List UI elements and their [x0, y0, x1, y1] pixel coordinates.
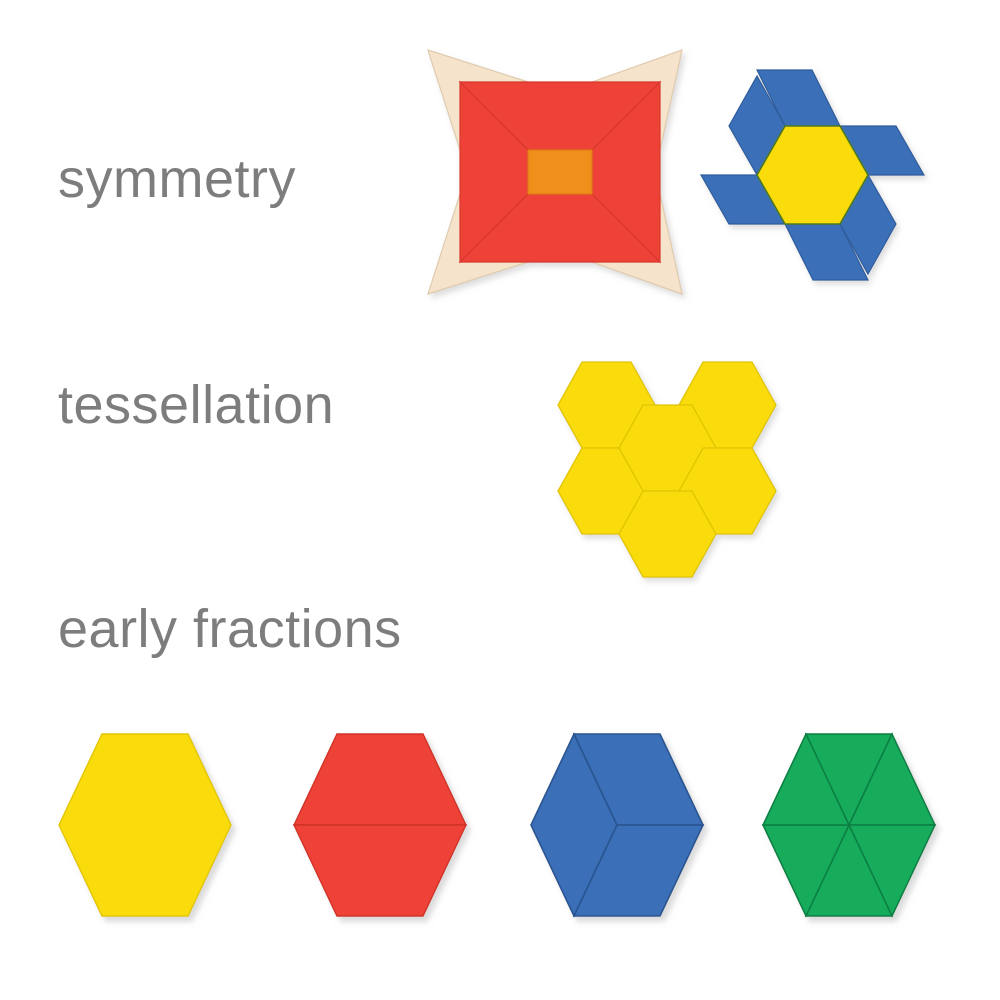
pinwheel-pieces	[701, 70, 924, 280]
yellow-hexagon-whole	[59, 734, 231, 916]
label-tessellation: tessellation	[58, 378, 334, 432]
figure-hexagon-tessellation	[530, 348, 810, 578]
figure-fraction-thirds-blue-hexagon	[512, 722, 732, 928]
fraction-halves-svg	[275, 722, 495, 928]
figure-fraction-sixths-green-hexagon	[744, 722, 964, 928]
figure-fraction-whole-yellow-hexagon	[40, 722, 260, 928]
fraction-whole-svg	[40, 722, 260, 928]
figure-fraction-halves-red-hexagon	[275, 722, 495, 928]
red-trapezoid-lower-half	[294, 825, 466, 916]
figure-symmetry-square-star	[420, 42, 700, 302]
fraction-thirds-svg	[512, 722, 732, 928]
poster-canvas: symmetry	[0, 0, 1000, 1000]
halves-hexagon-group	[294, 734, 466, 916]
whole-hexagon-group	[59, 734, 231, 916]
symmetry-square-star-svg	[420, 42, 700, 302]
fraction-sixths-svg	[744, 722, 964, 928]
orange-square-center	[528, 150, 592, 194]
sixths-hexagon-group	[763, 734, 935, 916]
thirds-hexagon-group	[531, 734, 703, 916]
red-trapezoid-upper-half	[294, 734, 466, 825]
figure-blue-pinwheel	[706, 48, 940, 304]
label-early-fractions: early fractions	[58, 602, 402, 656]
tessellation-hexagons	[558, 362, 776, 577]
label-symmetry: symmetry	[58, 152, 296, 206]
hexagon-tessellation-svg	[530, 348, 810, 578]
square-star-pieces	[428, 50, 682, 294]
blue-pinwheel-svg	[706, 48, 940, 304]
